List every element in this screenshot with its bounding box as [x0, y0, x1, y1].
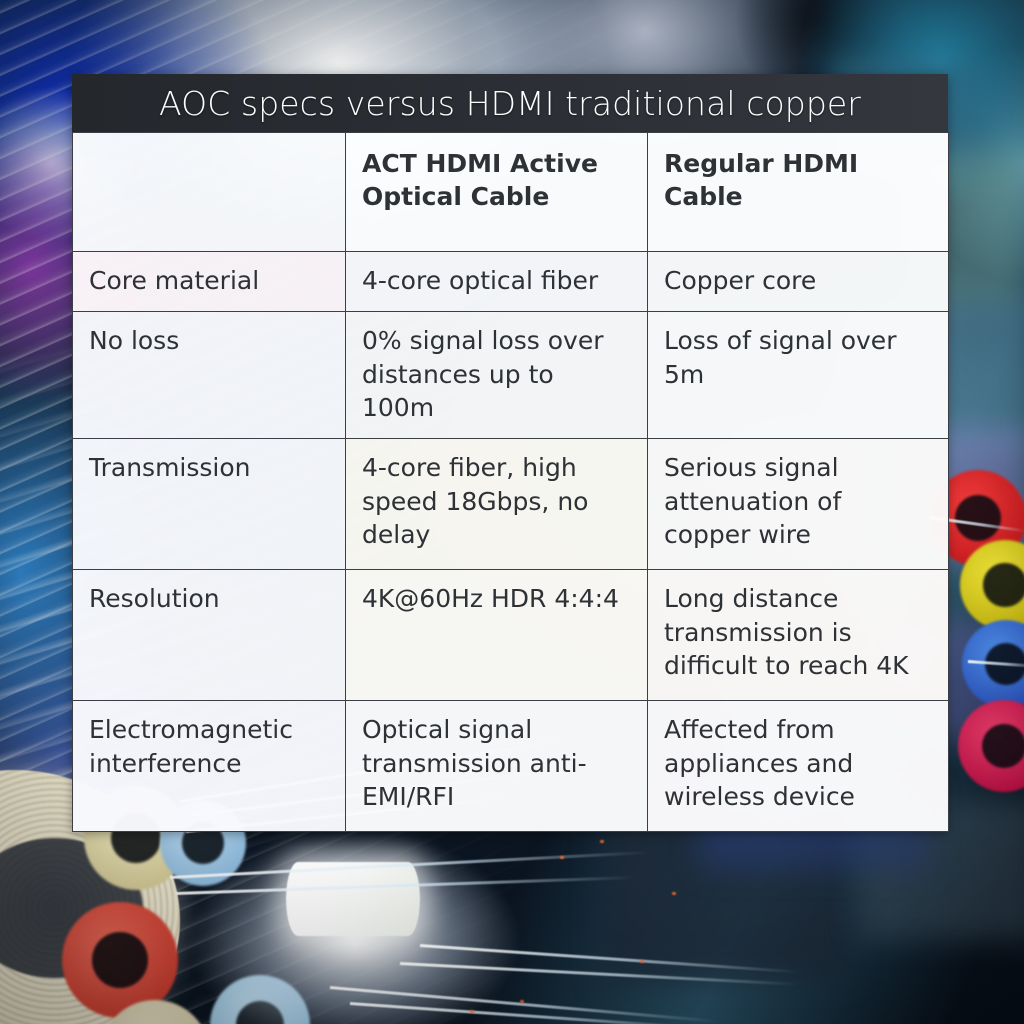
row-label-core-material: Core material	[73, 252, 346, 312]
table-header-row: ACT HDMI Active Optical Cable Regular HD…	[73, 133, 949, 252]
table-row: No loss 0% signal loss over distances up…	[73, 312, 949, 439]
cell-aoc-resolution: 4K@60Hz HDR 4:4:4	[346, 570, 648, 701]
cell-aoc-core-material: 4-core optical fiber	[346, 252, 648, 312]
column-header-regular: Regular HDMI Cable	[648, 133, 949, 252]
column-header-blank	[73, 133, 346, 252]
table-row: Transmission 4-core fiber, high speed 18…	[73, 439, 949, 570]
cell-regular-transmission: Serious signal attenuation of copper wir…	[648, 439, 949, 570]
table-row: Electromagnetic interference Optical sig…	[73, 701, 949, 832]
cell-regular-resolution: Long distance transmission is difficult …	[648, 570, 949, 701]
column-header-aoc: ACT HDMI Active Optical Cable	[346, 133, 648, 252]
row-label-no-loss: No loss	[73, 312, 346, 439]
cell-aoc-no-loss: 0% signal loss over distances up to 100m	[346, 312, 648, 439]
cell-regular-no-loss: Loss of signal over 5m	[648, 312, 949, 439]
spec-comparison-table: AOC specs versus HDMI traditional copper…	[72, 74, 948, 832]
table-title-bar: AOC specs versus HDMI traditional copper	[72, 74, 948, 132]
cell-aoc-transmission: 4-core fiber, high speed 18Gbps, no dela…	[346, 439, 648, 570]
row-label-emi: Electromagnetic interference	[73, 701, 346, 832]
page-title: AOC specs versus HDMI traditional copper	[159, 84, 861, 123]
table-row: Core material 4-core optical fiber Coppe…	[73, 252, 949, 312]
cell-regular-core-material: Copper core	[648, 252, 949, 312]
row-label-transmission: Transmission	[73, 439, 346, 570]
cell-regular-emi: Affected from appliances and wireless de…	[648, 701, 949, 832]
spec-table: ACT HDMI Active Optical Cable Regular HD…	[72, 132, 949, 832]
row-label-resolution: Resolution	[73, 570, 346, 701]
table-row: Resolution 4K@60Hz HDR 4:4:4 Long distan…	[73, 570, 949, 701]
cell-aoc-emi: Optical signal transmission anti-EMI/RFI	[346, 701, 648, 832]
screenshot-root: AOC specs versus HDMI traditional copper…	[0, 0, 1024, 1024]
